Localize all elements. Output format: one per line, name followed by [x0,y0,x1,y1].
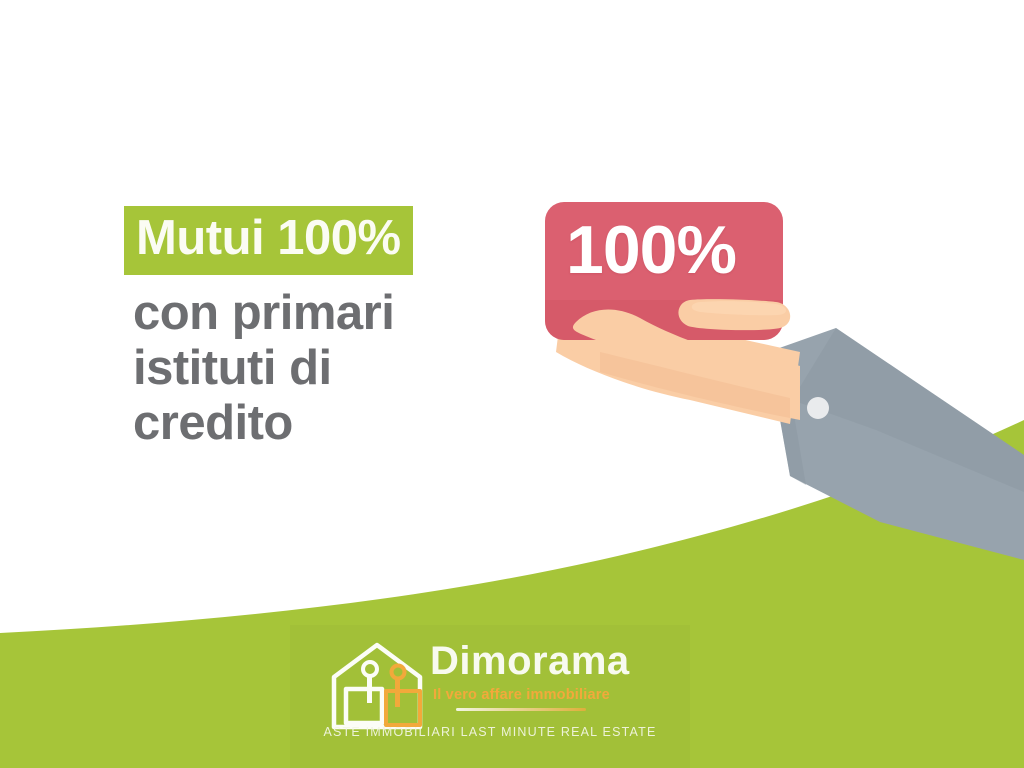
promo-card-value: 100% [566,216,776,284]
logo-tagline: Il vero affare immobiliare [433,687,685,703]
headline-highlight-line: Mutui 100% [124,206,554,283]
banner-canvas: Mutui 100% con primari istituti di credi… [0,0,1024,768]
headline-block: Mutui 100% con primari istituti di credi… [124,206,554,448]
house-door-outline [346,689,382,723]
headline-highlight-text: Mutui 100% [124,206,413,275]
brand-logo-lockup[interactable]: Dimorama Il vero affare immobiliare ASTE… [290,625,690,768]
headline-line-1: con primari [124,289,554,338]
door-outline-orange [386,691,420,725]
key-shaft [367,675,372,703]
headline-line-3: credito [124,399,554,448]
logo-strip-text: ASTE IMMOBILIARI LAST MINUTE REAL ESTATE [290,725,690,739]
logo-divider-rule [456,708,586,711]
cuff-button-icon [807,397,829,419]
key-ring-outline [363,662,377,676]
key-ring-orange [392,666,405,679]
house-with-key-icon [326,639,428,734]
logo-wordmark: Dimorama [430,641,685,681]
headline-line-2: istituti di [124,344,554,393]
logo-text-block: Dimorama Il vero affare immobiliare [430,641,685,711]
